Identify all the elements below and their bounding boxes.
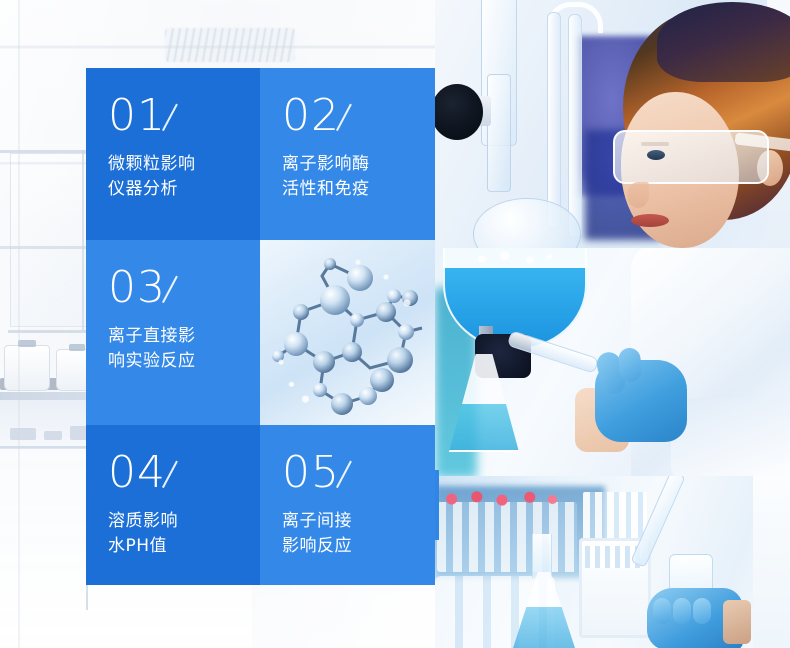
slash-icon — [168, 94, 194, 124]
feature-number-row-02: 02 — [282, 94, 423, 138]
feature-text-line: 微颗粒影响 — [108, 152, 248, 177]
glove-knuckle — [693, 598, 711, 624]
photo3-right-edge — [753, 476, 790, 648]
feature-cell-04-content: 04 溶质影响 水PH值 — [108, 451, 248, 559]
poster-stage: 01 微颗粒影响 仪器分析 02 离子影响酶 活性和免疫 — [0, 0, 790, 648]
molecule-icon — [260, 240, 435, 425]
cabinet-post-1 — [82, 150, 84, 330]
feature-text-line: 离子直接影 — [108, 324, 248, 349]
glove-knuckle — [653, 598, 671, 624]
glass-tube-right — [568, 14, 582, 238]
feature-number-04: 04 — [108, 451, 166, 495]
feature-grid: 01 微颗粒影响 仪器分析 02 离子影响酶 活性和免疫 — [86, 68, 435, 585]
dark-tray-1 — [0, 378, 62, 390]
instrument-item — [10, 428, 36, 440]
glove-knuckle — [673, 598, 691, 624]
liquid-bubbles — [461, 248, 565, 270]
glass-tube-left — [547, 12, 561, 229]
lab-coat-fold — [671, 398, 790, 476]
photo-scientist-goggles — [435, 0, 790, 248]
feature-number-row-04: 04 — [108, 451, 248, 495]
accent-strip — [435, 470, 439, 540]
scientist-hair-top — [657, 2, 790, 82]
ceiling-vent — [165, 28, 295, 62]
feature-number-05: 05 — [282, 451, 340, 495]
feature-number-03: 03 — [108, 266, 166, 310]
feature-text-line: 活性和免疫 — [282, 177, 423, 202]
feature-text-line: 溶质影响 — [108, 509, 248, 534]
feature-text-line: 水PH值 — [108, 534, 248, 559]
feature-cell-03[interactable]: 03 离子直接影 响实验反应 — [86, 240, 260, 425]
feature-text-04: 溶质影响 水PH值 — [108, 509, 248, 559]
feature-number-row-01: 01 — [108, 94, 248, 138]
red-tube-caps — [439, 488, 565, 510]
feature-cell-01-content: 01 微颗粒影响 仪器分析 — [108, 94, 248, 202]
glass-inner-coil — [487, 74, 511, 192]
feature-text-line: 仪器分析 — [108, 177, 248, 202]
feature-number-01: 01 — [108, 94, 166, 138]
feature-cell-03-content: 03 离子直接影 响实验反应 — [108, 266, 248, 374]
feature-text-line: 离子影响酶 — [282, 152, 423, 177]
molecule-illustration-tile — [260, 240, 435, 425]
feature-number-02: 02 — [282, 94, 340, 138]
feature-text-line: 响实验反应 — [108, 349, 248, 374]
feature-cell-02-content: 02 离子影响酶 活性和免疫 — [282, 94, 423, 202]
feature-cell-04[interactable]: 04 溶质影响 水PH值 — [86, 425, 260, 585]
tall-test-tubes — [583, 492, 647, 544]
feature-text-05: 离子间接 影响反应 — [282, 509, 423, 559]
scientist-eye — [647, 150, 665, 160]
test-tube-set — [437, 502, 577, 572]
slash-icon — [168, 266, 194, 296]
slash-icon — [342, 94, 368, 124]
feature-cell-05[interactable]: 05 离子间接 影响反应 — [260, 425, 435, 585]
feature-number-row-05: 05 — [282, 451, 423, 495]
photo-blue-flask — [435, 248, 790, 476]
slash-icon — [342, 451, 368, 481]
scientist-nose — [627, 182, 649, 208]
feature-text-02: 离子影响酶 活性和免疫 — [282, 152, 423, 202]
wrist-cuff — [723, 600, 751, 644]
feature-text-line: 离子间接 — [282, 509, 423, 534]
feature-text-line: 影响反应 — [282, 534, 423, 559]
instrument-item — [44, 431, 62, 440]
erlenmeyer-neck — [532, 534, 552, 578]
glove-finger — [618, 347, 642, 382]
bottle-cap — [69, 344, 85, 351]
slash-icon — [168, 451, 194, 481]
reagent-bottle — [4, 345, 50, 391]
feature-cell-02[interactable]: 02 离子影响酶 活性和免疫 — [260, 68, 435, 240]
feature-text-03: 离子直接影 响实验反应 — [108, 324, 248, 374]
bottle-cap — [18, 340, 36, 347]
photo-column — [435, 0, 790, 648]
feature-number-row-03: 03 — [108, 266, 248, 310]
feature-cell-01[interactable]: 01 微颗粒影响 仪器分析 — [86, 68, 260, 240]
feature-cell-05-content: 05 离子间接 影响反应 — [282, 451, 423, 559]
photo-pipette-test-tubes — [435, 476, 790, 648]
feature-text-01: 微颗粒影响 仪器分析 — [108, 152, 248, 202]
scientist-lips — [631, 214, 669, 227]
